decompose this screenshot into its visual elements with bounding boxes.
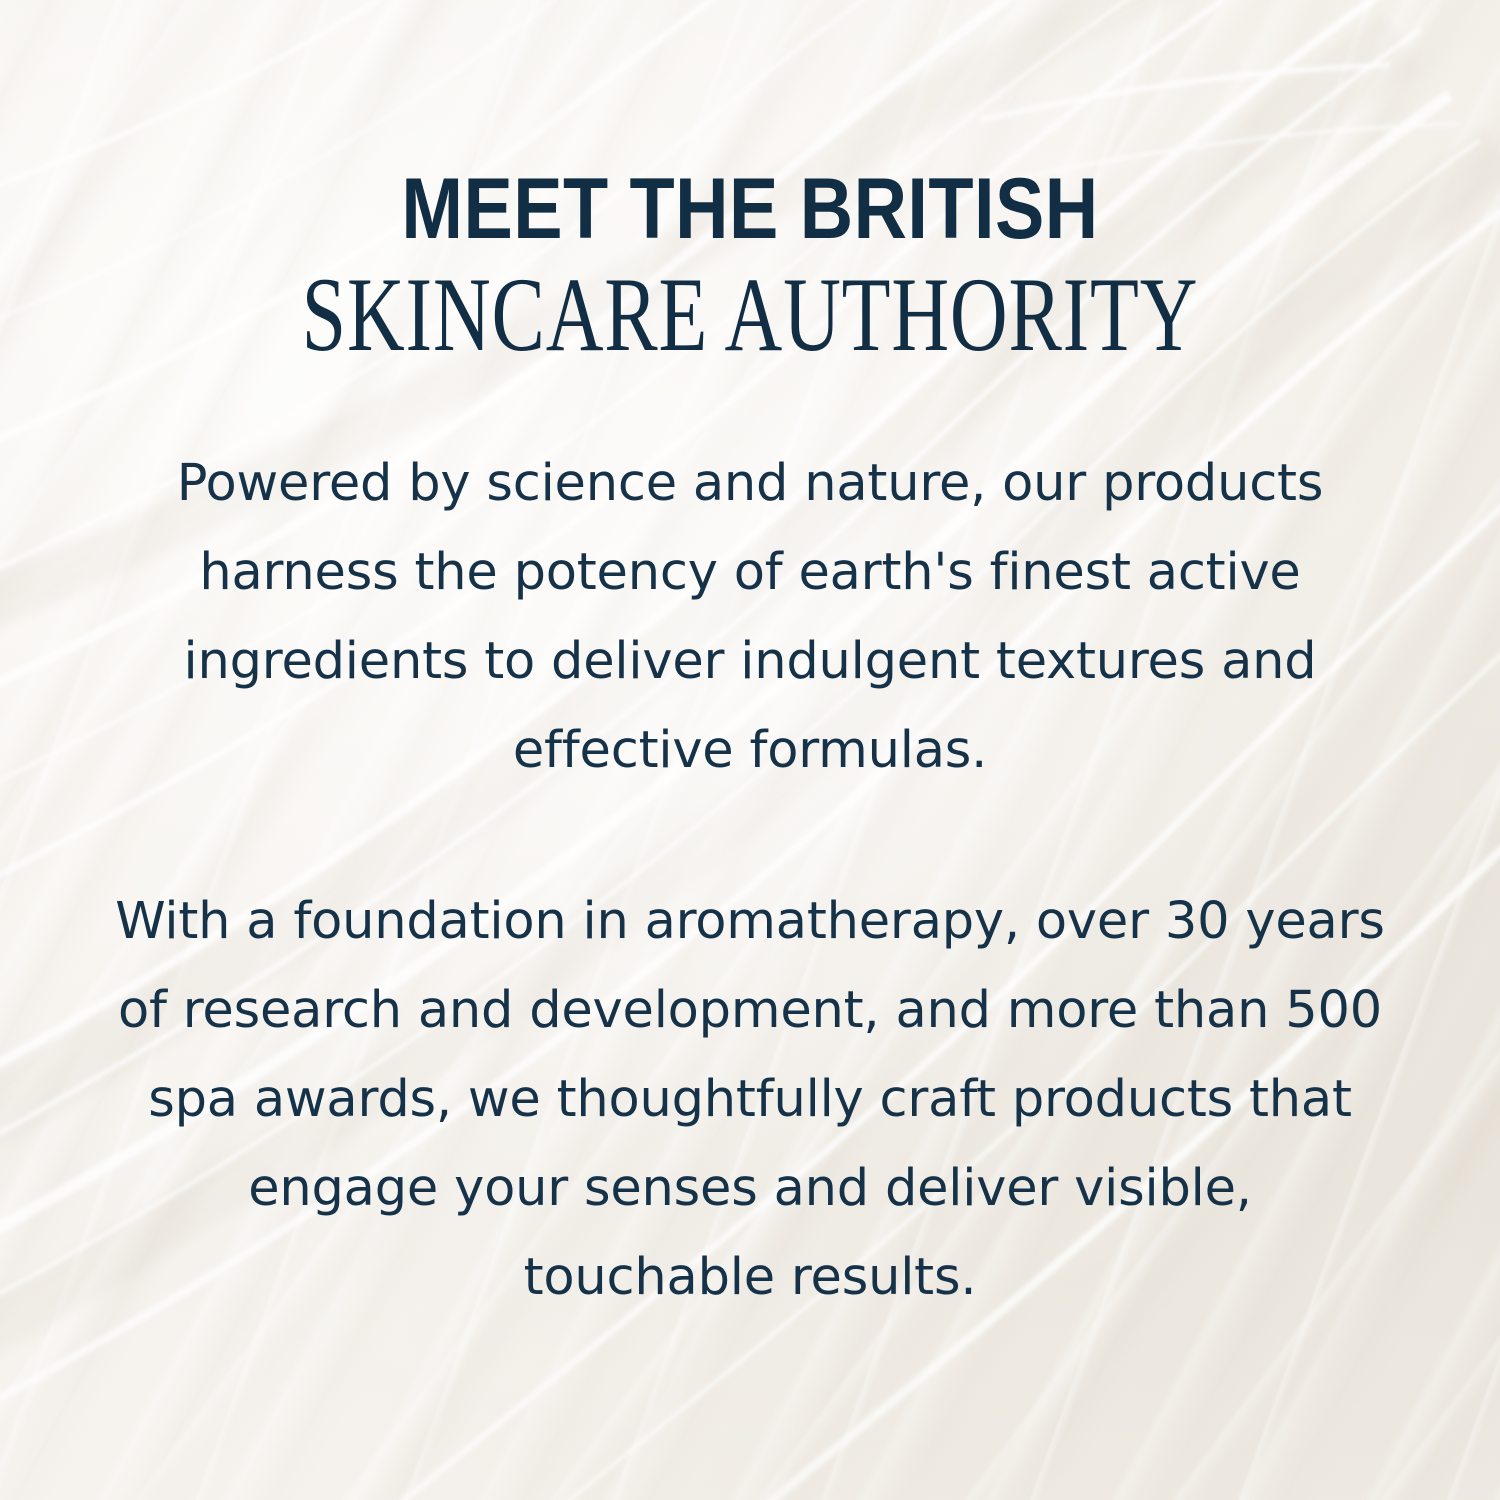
headline-line-2: SKINCARE AUTHORITY xyxy=(150,266,1350,364)
content-container: MEET THE BRITISH SKINCARE AUTHORITY Powe… xyxy=(0,0,1500,1500)
brand-statement-graphic: MEET THE BRITISH SKINCARE AUTHORITY Powe… xyxy=(0,0,1500,1500)
body-paragraph-1: Powered by science and nature, our produ… xyxy=(115,439,1385,795)
page-title: MEET THE BRITISH SKINCARE AUTHORITY xyxy=(0,0,1500,361)
headline-line-1: MEET THE BRITISH xyxy=(105,170,1395,249)
body-copy: Powered by science and nature, our produ… xyxy=(115,439,1385,1322)
body-paragraph-2: With a foundation in aromatherapy, over … xyxy=(115,877,1385,1322)
